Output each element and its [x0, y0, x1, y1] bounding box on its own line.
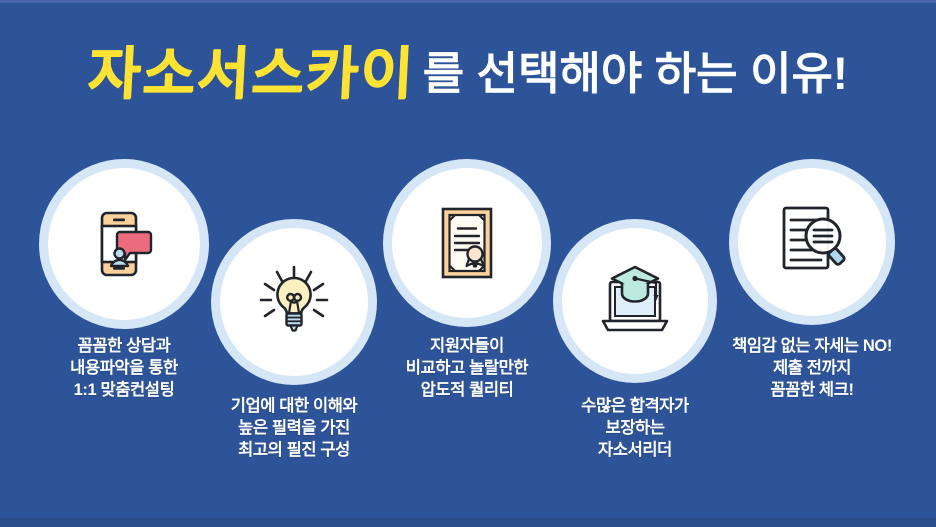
feature-caption-1: 꼼꼼한 상담과 내용파악을 통한 1:1 맞춤컨설팅: [24, 336, 224, 402]
caption-line: 책임감 없는 자세는 NO!: [706, 336, 918, 358]
feature-icon-circle-2: [220, 228, 368, 376]
caption-line: 비교하고 놀랄만한: [382, 358, 552, 380]
feature-caption-5: 책임감 없는 자세는 NO! 제출 전까지 꼼꼼한 체크!: [706, 336, 918, 402]
caption-line: 보장하는: [546, 418, 724, 440]
promo-poster: 자소서스카이를 선택해야 하는 이유! 꼼꼼한 상담과 내용파악을 통한 1:1…: [0, 0, 936, 527]
lightbulb-icon: [252, 260, 336, 344]
caption-line: 수많은 합격자가: [546, 396, 724, 418]
caption-line: 지원자들이: [382, 336, 552, 358]
feature-icon-circle-3: [392, 168, 542, 318]
smartphone-chat-icon: [84, 204, 164, 284]
caption-line: 압도적 퀄리티: [382, 380, 552, 402]
bottom-accent-band: [0, 518, 936, 527]
caption-line: 꼼꼼한 체크!: [706, 380, 918, 402]
caption-line: 최고의 필진 구성: [192, 440, 396, 462]
laptop-graduation-cap-icon: [592, 258, 678, 344]
caption-line: 내용파악을 통한: [24, 358, 224, 380]
brand-name: 자소서스카이: [87, 46, 417, 103]
feature-caption-4: 수많은 합격자가 보장하는 자소서리더: [546, 396, 724, 462]
feature-icon-circle-4: [562, 228, 708, 374]
feature-caption-3: 지원자들이 비교하고 놀랄만한 압도적 퀄리티: [382, 336, 552, 402]
feature-icon-circle-1: [48, 168, 200, 320]
caption-line: 자소서리더: [546, 440, 724, 462]
document-magnifier-icon: [770, 200, 854, 284]
caption-line: 제출 전까지: [706, 358, 918, 380]
caption-line: 높은 필력을 가진: [192, 418, 396, 440]
page-title: 자소서스카이를 선택해야 하는 이유!: [0, 46, 936, 103]
headline-suffix: 를 선택해야 하는 이유!: [423, 51, 848, 96]
certificate-icon: [427, 203, 507, 283]
caption-line: 꼼꼼한 상담과: [24, 336, 224, 358]
feature-icon-circle-5: [738, 168, 886, 316]
feature-caption-2: 기업에 대한 이해와 높은 필력을 가진 최고의 필진 구성: [192, 396, 396, 462]
top-accent-band: [0, 0, 936, 3]
caption-line: 기업에 대한 이해와: [192, 396, 396, 418]
